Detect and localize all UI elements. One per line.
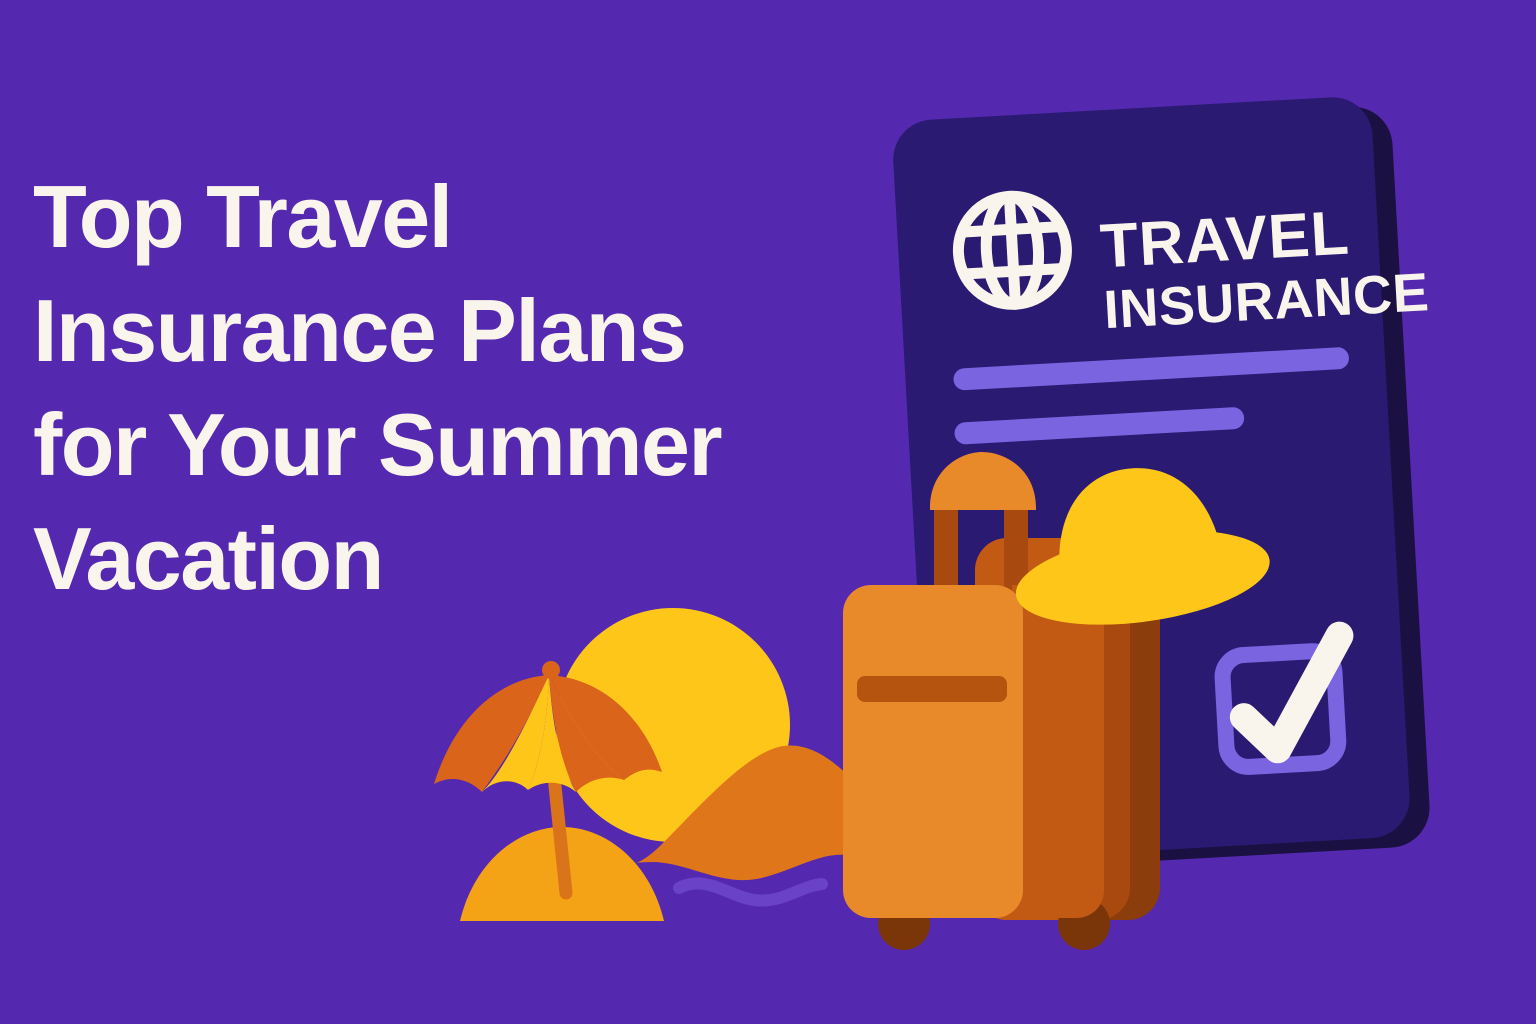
sand-mound (460, 827, 664, 921)
hat-brim (1010, 516, 1276, 639)
card-placeholder-line-1 (953, 347, 1350, 391)
card-title-line2: INSURANCE (1102, 262, 1430, 340)
poster-canvas: Top Travel Insurance Plans for Your Summ… (0, 0, 1536, 1024)
umbrella-canopy (434, 661, 662, 792)
suitcase-handle-bar (930, 452, 1036, 510)
suitcase-strap (857, 676, 1007, 702)
suitcase-wheel-right (1058, 898, 1110, 950)
card-shadow (911, 105, 1432, 873)
suitcase-handle-post-left (934, 486, 958, 626)
suitcase-back-layer-3 (1040, 560, 1160, 920)
hill-shape (598, 746, 974, 887)
page-title: Top Travel Insurance Plans for Your Summ… (33, 160, 853, 616)
hat-crown (1046, 457, 1223, 585)
suitcase-back-layer-1 (975, 538, 1100, 920)
suitcase-front-body (843, 585, 1023, 918)
checkbox-box[interactable] (1221, 650, 1339, 768)
card-title-line1: TRAVEL (1098, 199, 1351, 282)
suitcase-handle-post-right (1004, 486, 1028, 626)
umbrella-pole (551, 747, 566, 893)
hat-band (1056, 528, 1223, 585)
globe-icon (955, 193, 1069, 307)
suitcase-wheel-left (878, 898, 930, 950)
sun-hat (1001, 451, 1276, 639)
suitcase-back-layer-2 (1010, 550, 1130, 920)
water-wave-line (679, 883, 822, 900)
sun-shape (556, 608, 790, 842)
card-placeholder-line-2 (954, 407, 1245, 445)
umbrella-knob (542, 661, 560, 679)
suitcase-side-panel (1012, 585, 1104, 918)
insurance-card (891, 95, 1412, 863)
checkmark-icon (1240, 636, 1346, 751)
